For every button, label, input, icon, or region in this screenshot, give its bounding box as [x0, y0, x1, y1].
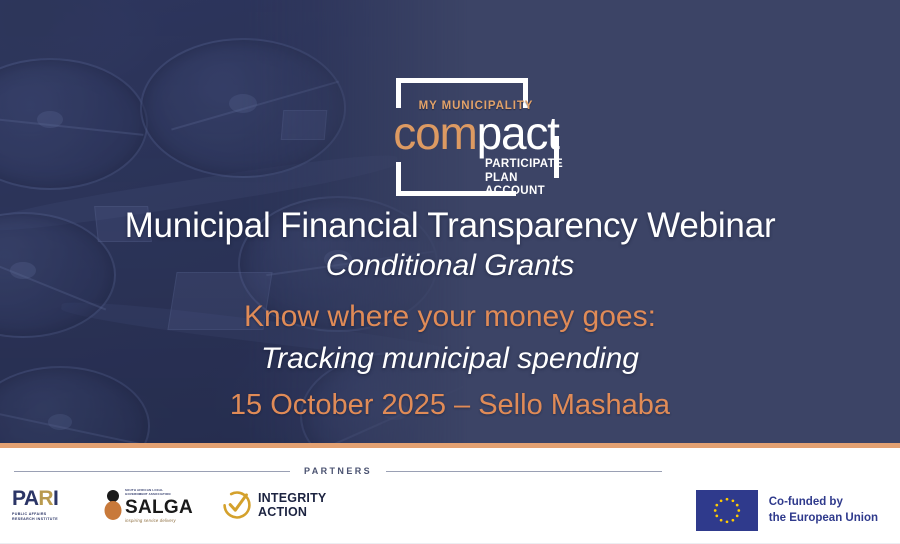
eu-text-line2: the European Union — [769, 511, 878, 526]
pari-subtext-line2: RESEARCH INSTITUTE — [12, 517, 74, 522]
logo-tagline-participate: PARTICIPATE — [485, 158, 563, 172]
logo-wordmark-com: com — [393, 107, 476, 159]
salga-overline: SOUTH AFRICAN LOCAL GOVERNMENT ASSOCIATI… — [125, 488, 193, 496]
partners-rule-left — [14, 471, 290, 472]
my-municipality-compact-logo: MY MUNICIPALITY compact PARTICIPATE PLAN… — [383, 76, 569, 202]
eu-cofunding-badge[interactable]: Co-funded by the European Union — [696, 490, 878, 531]
page-title: Municipal Financial Transparency Webinar — [0, 206, 900, 245]
integrity-action-check-circle-icon — [223, 491, 251, 519]
logo-tagline-account: ACCOUNT — [485, 185, 563, 199]
tagline-hook-italic: Tracking municipal spending — [0, 342, 900, 376]
logo-tagline-plan: PLAN — [485, 172, 563, 186]
date-and-presenter: 15 October 2025 – Sello Mashaba — [0, 389, 900, 421]
salga-text: SOUTH AFRICAN LOCAL GOVERNMENT ASSOCIATI… — [125, 488, 193, 522]
logo-wordmark-pact: pact — [477, 107, 559, 159]
salga-figure-eight-icon — [104, 490, 121, 520]
partners-heading: PARTNERS — [14, 466, 662, 476]
eu-text-line1: Co-funded by — [769, 495, 878, 510]
european-union-flag-icon — [696, 490, 758, 531]
pari-wordmark-r: R — [38, 487, 53, 510]
salga-overline-line2: GOVERNMENT ASSOCIATION — [125, 492, 193, 496]
integrity-action-line2: ACTION — [258, 505, 326, 519]
pari-wordmark: PARI — [12, 488, 74, 509]
partner-logo-row: PARI PUBLIC AFFAIRS RESEARCH INSTITUTE S… — [12, 488, 326, 523]
eu-cofunding-text: Co-funded by the European Union — [769, 495, 878, 525]
partner-logo-salga[interactable]: SOUTH AFRICAN LOCAL GOVERNMENT ASSOCIATI… — [104, 488, 193, 522]
partners-rule-right — [386, 471, 662, 472]
salga-slogan: inspiring service delivery — [125, 518, 193, 523]
logo-tagline: PARTICIPATE PLAN ACCOUNT — [485, 158, 563, 199]
salga-icon-bottom-circle — [104, 501, 121, 520]
pari-wordmark-pa: PA — [12, 487, 38, 510]
title-block: Municipal Financial Transparency Webinar… — [0, 206, 900, 421]
pari-subtext: PUBLIC AFFAIRS RESEARCH INSTITUTE — [12, 512, 74, 523]
logo-wordmark: compact — [380, 110, 572, 156]
salga-wordmark: SALGA — [125, 498, 193, 517]
hero-banner: MY MUNICIPALITY compact PARTICIPATE PLAN… — [0, 0, 900, 443]
tagline-hook: Know where your money goes: — [0, 300, 900, 334]
integrity-action-wordmark: INTEGRITY ACTION — [258, 491, 326, 519]
pari-wordmark-i: I — [53, 487, 58, 510]
webinar-title-slide: MY MUNICIPALITY compact PARTICIPATE PLAN… — [0, 0, 900, 544]
partner-logo-integrity-action[interactable]: INTEGRITY ACTION — [223, 491, 326, 519]
page-subtitle: Conditional Grants — [0, 249, 900, 283]
partner-logo-pari[interactable]: PARI PUBLIC AFFAIRS RESEARCH INSTITUTE — [12, 488, 74, 523]
partners-label: PARTNERS — [304, 466, 372, 476]
footer-partners-bar: PARTNERS PARI PUBLIC AFFAIRS RESEARCH IN… — [0, 448, 900, 544]
integrity-action-line1: INTEGRITY — [258, 491, 326, 505]
